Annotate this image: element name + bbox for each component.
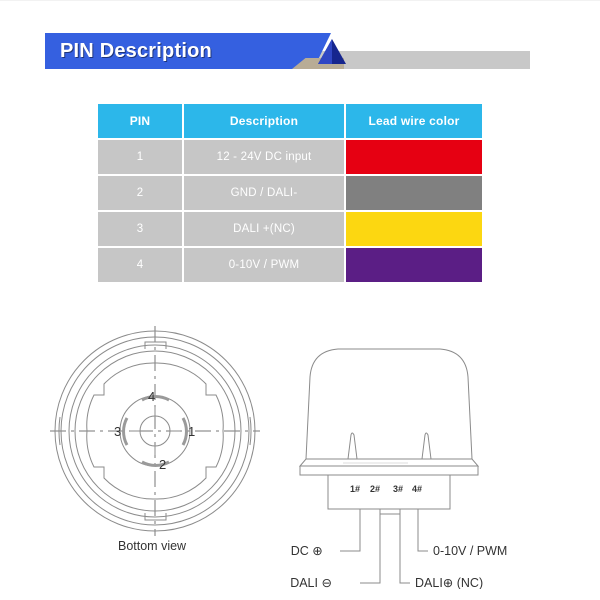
cell-pin: 3: [98, 212, 184, 248]
technical-drawings: 4 2 1 3 Bottom view: [0, 321, 600, 591]
socket-side-view-drawing: 1# 2# 3# 4# 12 - 24V DC ⊕ GND / DALI ⊖ 0…: [288, 339, 588, 589]
bottom-view-caption: Bottom view: [118, 539, 186, 553]
cell-pin: 4: [98, 248, 184, 282]
pin-mark-2: 2#: [370, 484, 380, 494]
bottom-view-pin-label-2: 2: [159, 457, 166, 472]
fin-right: [422, 433, 431, 459]
table-header-row: PIN Description Lead wire color: [98, 104, 482, 140]
cell-lead-wire-color: [346, 176, 482, 212]
socket-bottom-view-drawing: 4 2 1 3: [20, 321, 320, 551]
cell-pin: 1: [98, 140, 184, 176]
column-header-pin: PIN: [98, 104, 184, 140]
page-title: PIN Description: [60, 33, 212, 69]
pin-mark-3: 3#: [393, 484, 403, 494]
banner-triangle-highlight-icon: [318, 39, 332, 64]
bottom-view-pin-label-1: 1: [188, 424, 195, 439]
color-swatch-purple: [346, 248, 482, 282]
bottom-view-pin-label-3: 3: [114, 424, 121, 439]
pin-mark-1: 1#: [350, 484, 360, 494]
pin-description-table: PIN Description Lead wire color 1 12 - 2…: [98, 104, 482, 282]
callout-gnd-dali: GND / DALI ⊖: [288, 576, 332, 589]
pin-stubs: [360, 509, 418, 517]
cell-lead-wire-color: [346, 140, 482, 176]
pin-mark-4: 4#: [412, 484, 422, 494]
table-row: 3 DALI +(NC): [98, 212, 482, 248]
cell-lead-wire-color: [346, 212, 482, 248]
outer-sliver-right: [250, 417, 251, 445]
column-header-lead-wire-color: Lead wire color: [346, 104, 482, 140]
center-axis-lines: [50, 326, 260, 536]
device-base-body: [300, 466, 478, 475]
callout-dali-nc: DALI⊕ (NC): [415, 576, 483, 589]
bottom-view-pin-label-4: 4: [148, 389, 155, 404]
cell-pin: 2: [98, 176, 184, 212]
table-row: 2 GND / DALI-: [98, 176, 482, 212]
column-header-description: Description: [184, 104, 346, 140]
cell-description: 0-10V / PWM: [184, 248, 346, 282]
table-row: 4 0-10V / PWM: [98, 248, 482, 282]
callout-12-24v-dc: 12 - 24V DC ⊕: [288, 544, 323, 558]
cell-description: DALI +(NC): [184, 212, 346, 248]
cell-description: GND / DALI-: [184, 176, 346, 212]
table-row: 1 12 - 24V DC input: [98, 140, 482, 176]
callout-0-10v-pwm: 0-10V / PWM: [433, 544, 507, 558]
color-swatch-yellow: [346, 212, 482, 246]
pin-description-page: PIN Description PIN Description Lead wir…: [0, 0, 600, 600]
device-body-outline: [306, 349, 472, 459]
section-banner: PIN Description: [45, 33, 530, 69]
color-swatch-red: [346, 140, 482, 174]
cell-lead-wire-color: [346, 248, 482, 282]
cell-description: 12 - 24V DC input: [184, 140, 346, 176]
callout-leader-lines: [340, 517, 428, 583]
fin-left: [348, 433, 357, 459]
contact-arc-1-right: [183, 418, 186, 445]
pin-base-plate: [328, 475, 450, 509]
contact-arc-3-left: [124, 418, 127, 445]
color-swatch-gray: [346, 176, 482, 210]
